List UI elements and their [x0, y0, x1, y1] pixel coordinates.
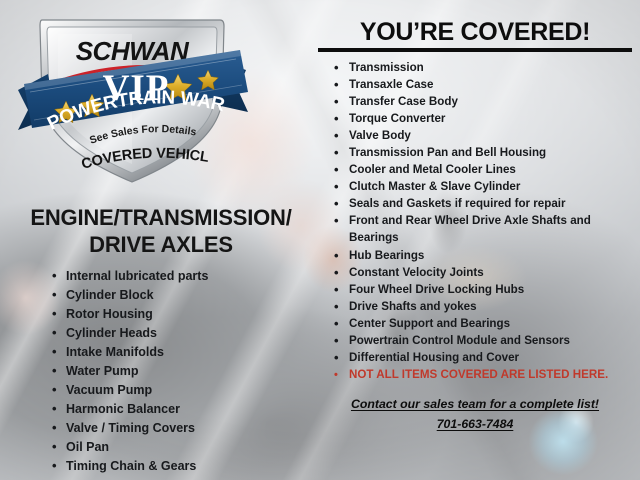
list-item: Transaxle Case: [334, 76, 640, 93]
list-item: Powertrain Control Module and Sensors: [334, 332, 640, 349]
shield-badge-icon: SCHWAN VIP POWERTRAIN WARR: [12, 4, 252, 189]
title-underline: [318, 48, 632, 52]
list-item: Valve Body: [334, 127, 640, 144]
list-item: Intake Manifolds: [52, 343, 322, 362]
covered-items-list: Transmission Transaxle Case Transfer Cas…: [334, 59, 640, 384]
contact-block: Contact our sales team for a complete li…: [310, 395, 640, 433]
list-item: Water Pump: [52, 362, 322, 381]
list-item: Transfer Case Body: [334, 93, 640, 110]
contact-cta-text: Contact our sales team for a complete li…: [310, 395, 640, 413]
list-item: Valve / Timing Covers: [52, 419, 322, 438]
engine-coverage-list: Internal lubricated parts Cylinder Block…: [52, 267, 322, 476]
list-item: Oil Pan: [52, 438, 322, 457]
list-item: Constant Velocity Joints: [334, 264, 640, 281]
list-item: Transmission Pan and Bell Housing: [334, 144, 640, 161]
list-item: Vacuum Pump: [52, 381, 322, 400]
list-item: Cylinder Heads: [52, 324, 322, 343]
engine-section-heading: ENGINE/TRANSMISSION/ DRIVE AXLES: [0, 205, 322, 259]
vip-warranty-badge: SCHWAN VIP POWERTRAIN WARR: [12, 4, 252, 189]
list-item: Harmonic Balancer: [52, 400, 322, 419]
covered-items-section: YOU’RE COVERED! Transmission Transaxle C…: [310, 18, 640, 433]
list-item: Front and Rear Wheel Drive Axle Shafts a…: [334, 212, 640, 246]
page-title: YOU’RE COVERED!: [310, 18, 640, 47]
list-item: Rotor Housing: [52, 305, 322, 324]
list-item: Drive Shafts and yokes: [334, 298, 640, 315]
list-item: Cylinder Block: [52, 286, 322, 305]
list-item: Hub Bearings: [334, 247, 640, 264]
list-item: Transmission: [334, 59, 640, 76]
phone-number[interactable]: 701-663-7484: [437, 417, 514, 431]
engine-heading-line-1: ENGINE/TRANSMISSION/: [30, 205, 291, 230]
list-item: Center Support and Bearings: [334, 315, 640, 332]
list-item: Timing Chain & Gears: [52, 457, 322, 476]
list-item: Clutch Master & Slave Cylinder: [334, 178, 640, 195]
contact-phone-row: 701-663-7484: [310, 413, 640, 433]
engine-coverage-section: ENGINE/TRANSMISSION/ DRIVE AXLES Interna…: [0, 205, 322, 476]
list-item: Cooler and Metal Cooler Lines: [334, 161, 640, 178]
list-item: Seals and Gaskets if required for repair: [334, 195, 640, 212]
list-item: Differential Housing and Cover: [334, 349, 640, 366]
engine-heading-line-2: DRIVE AXLES: [89, 232, 233, 257]
coverage-disclaimer: NOT ALL ITEMS COVERED ARE LISTED HERE.: [334, 366, 640, 383]
list-item: Internal lubricated parts: [52, 267, 322, 286]
list-item: Four Wheel Drive Locking Hubs: [334, 281, 640, 298]
contact-cta-label: Contact our sales team for a complete li…: [351, 397, 599, 411]
list-item: Torque Converter: [334, 110, 640, 127]
